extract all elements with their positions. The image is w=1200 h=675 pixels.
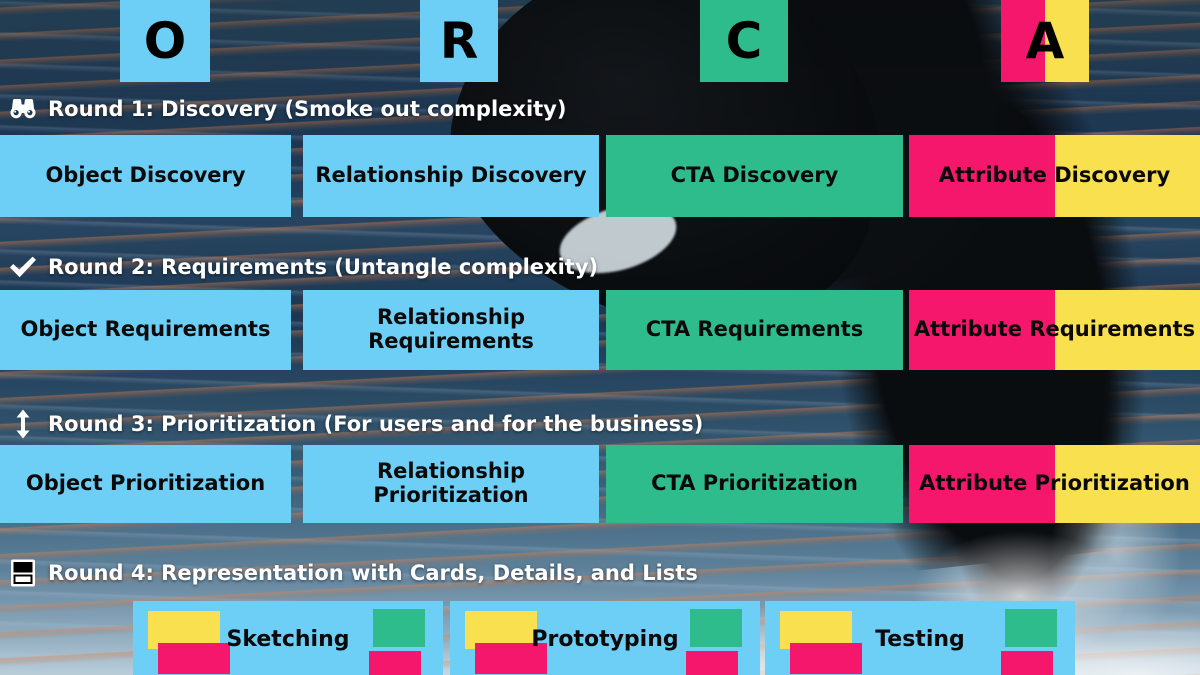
acronym-letter-r: R [440, 16, 479, 66]
chip-testing[interactable]: Testing [765, 601, 1075, 675]
pink-swatch-2 [369, 651, 421, 675]
round-3-title: Round 3: Prioritization (For users and f… [48, 412, 703, 436]
cell-cta-prioritization[interactable]: CTA Prioritization [606, 445, 903, 523]
cell-object-discovery[interactable]: Object Discovery [0, 135, 291, 217]
cell-attribute-discovery[interactable]: Attribute Discovery [909, 135, 1200, 217]
cell-relationship-prioritization[interactable]: Relationship Prioritization [303, 445, 599, 523]
cell-object-requirements[interactable]: Object Requirements [0, 290, 291, 370]
cell-cta-discovery[interactable]: CTA Discovery [606, 135, 903, 217]
binoculars-icon [8, 94, 38, 124]
chip-prototyping[interactable]: Prototyping [450, 601, 760, 675]
round-4-title: Round 4: Representation with Cards, Deta… [48, 561, 698, 585]
cell-object-prioritization[interactable]: Object Prioritization [0, 445, 291, 523]
round-2-header: Round 2: Requirements (Untangle complexi… [8, 252, 598, 282]
acronym-letter-o: O [144, 16, 187, 66]
pink-swatch-2 [686, 651, 738, 675]
cell-relationship-discovery[interactable]: Relationship Discovery [303, 135, 599, 217]
acronym-letter-a: A [1026, 16, 1065, 66]
round-3-bar-row: Object Prioritization Relationship Prior… [0, 445, 1200, 523]
round-3-header: Round 3: Prioritization (For users and f… [8, 409, 703, 439]
cell-attribute-requirements[interactable]: Attribute Requirements [909, 290, 1200, 370]
cell-cta-requirements[interactable]: CTA Requirements [606, 290, 903, 370]
acronym-tile-c: C [700, 0, 788, 82]
checkmark-icon [8, 252, 38, 282]
chip-sketching[interactable]: Sketching [133, 601, 443, 675]
pink-swatch-2 [1001, 651, 1053, 675]
acronym-tile-o: O [120, 0, 210, 82]
round-4-header: Round 4: Representation with Cards, Deta… [8, 558, 698, 588]
acronym-letter-c: C [726, 16, 763, 66]
round-1-bar-row: Object Discovery Relationship Discovery … [0, 135, 1200, 217]
chip-label-testing: Testing [765, 627, 1075, 652]
acronym-tile-r: R [420, 0, 498, 82]
chip-label-prototyping: Prototyping [450, 627, 760, 652]
round-1-header: Round 1: Discovery (Smoke out complexity… [8, 94, 566, 124]
round-2-bar-row: Object Requirements Relationship Require… [0, 290, 1200, 370]
round-1-title: Round 1: Discovery (Smoke out complexity… [48, 97, 566, 121]
acronym-tile-a: A [1001, 0, 1089, 82]
cell-attribute-prioritization[interactable]: Attribute Prioritization [909, 445, 1200, 523]
card-detail-icon [8, 558, 38, 588]
chip-label-sketching: Sketching [133, 627, 443, 652]
orca-framework-slide: O R C A Round 1: [0, 0, 1200, 675]
round-2-title: Round 2: Requirements (Untangle complexi… [48, 255, 598, 279]
up-down-arrow-icon [8, 409, 38, 439]
cell-relationship-requirements[interactable]: Relationship Requirements [303, 290, 599, 370]
